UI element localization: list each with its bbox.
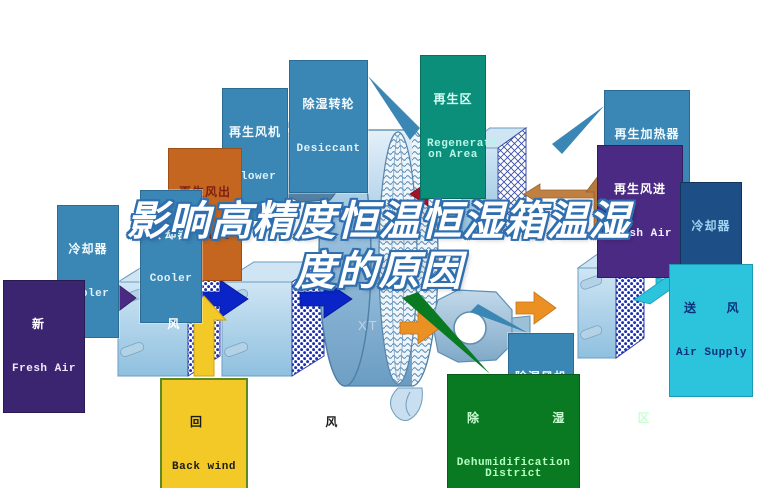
label-regeneration-blower-cn: 再生风机 bbox=[228, 126, 282, 139]
diagram-canvas: XT 除湿转轮 Desiccant 再生风机 Blower 再生区 Regene… bbox=[0, 0, 757, 488]
label-regeneration-area[interactable]: 再生区 Regenerati on Area bbox=[420, 55, 486, 199]
label-air-supply-cn: 送 风 bbox=[676, 302, 746, 315]
label-back-wind[interactable]: 回 风 Back wind bbox=[160, 378, 248, 488]
label-cooler-left-2[interactable]: 冷却器 Cooler bbox=[140, 190, 202, 323]
label-regeneration-fresh-air[interactable]: 再生风进 Fresh Air bbox=[597, 145, 683, 278]
label-regeneration-fresh-air-en: Fresh Air bbox=[604, 229, 676, 241]
label-cooler-left-2-en: Cooler bbox=[146, 274, 196, 286]
label-dehumidification-district-en: Dehumidification District bbox=[455, 458, 572, 481]
label-regeneration-area-cn: 再生区 bbox=[427, 93, 479, 106]
label-dehumidification-district[interactable]: 除 湿 区 Dehumidification District bbox=[447, 374, 580, 488]
label-cooler-right-cn: 冷却器 bbox=[686, 220, 736, 233]
label-cooler-left-2-cn: 冷却器 bbox=[146, 228, 196, 241]
label-desiccant-wheel-cn: 除湿转轮 bbox=[295, 98, 362, 111]
label-fresh-air-inlet[interactable]: 新 风 Fresh Air bbox=[3, 280, 85, 413]
label-fresh-air-inlet-en: Fresh Air bbox=[10, 364, 78, 376]
label-desiccant-wheel-en: Desiccant bbox=[295, 144, 362, 156]
label-regeneration-area-en: Regenerati on Area bbox=[427, 139, 479, 162]
label-back-wind-cn: 回 风 bbox=[168, 416, 240, 429]
watermark-text: XT bbox=[358, 318, 379, 333]
label-air-supply[interactable]: 送 风 Air Supply bbox=[669, 264, 753, 397]
label-air-supply-en: Air Supply bbox=[676, 348, 746, 360]
label-cooler-left-1-cn: 冷却器 bbox=[63, 243, 113, 256]
label-desiccant-wheel[interactable]: 除湿转轮 Desiccant bbox=[289, 60, 368, 193]
label-dehumidification-district-cn: 除 湿 区 bbox=[455, 412, 572, 425]
label-regeneration-heater-cn: 再生加热器 bbox=[610, 128, 684, 141]
label-regeneration-fresh-air-cn: 再生风进 bbox=[604, 183, 676, 196]
heater-arrow bbox=[524, 184, 600, 204]
label-fresh-air-inlet-cn: 新 风 bbox=[10, 318, 78, 331]
label-back-wind-en: Back wind bbox=[168, 462, 240, 474]
